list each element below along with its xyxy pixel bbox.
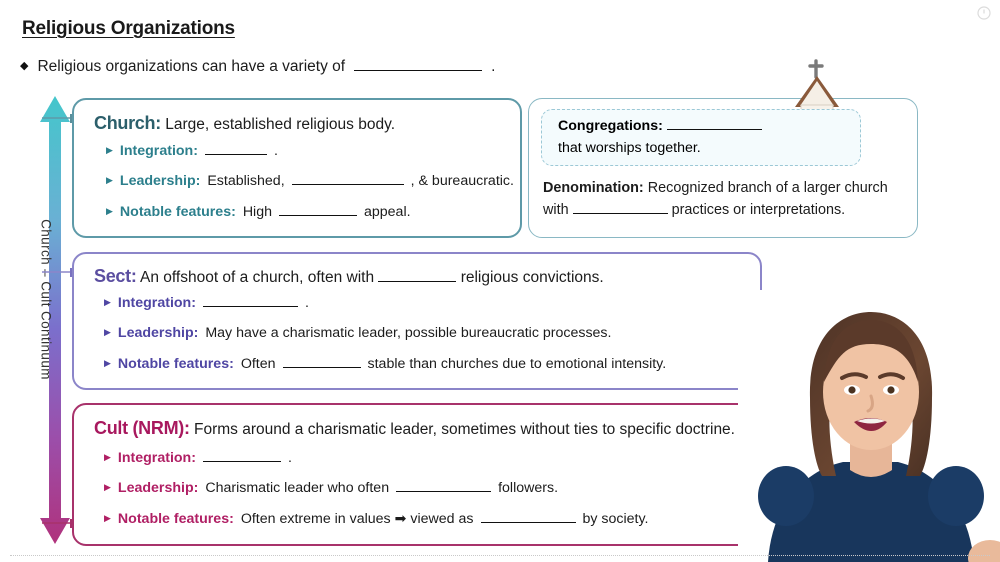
church-row-leadership: ▶ Leadership: Established, , & bureaucra… — [106, 172, 514, 190]
row-after: , & bureaucratic. — [411, 172, 514, 190]
row-blank — [279, 215, 357, 216]
card-denomination[interactable]: Congregations: that worships together. D… — [528, 98, 918, 238]
church-definition: Large, established religious body. — [165, 116, 395, 133]
congregations-term: Congregations: — [558, 118, 663, 134]
sect-definition-before: An offshoot of a church, often with — [140, 269, 374, 286]
row-label: Leadership: — [118, 479, 198, 497]
church-row-integration: ▶ Integration: . — [106, 142, 514, 160]
row-blank — [481, 522, 576, 523]
cult-rows: ▶ Integration: . ▶ Leadership: Charismat… — [104, 449, 648, 528]
church-rows: ▶ Integration: . ▶ Leadership: Establish… — [106, 142, 514, 221]
lead-text-before: Religious organizations can have a varie… — [37, 58, 345, 76]
church-row-notable: ▶ Notable features: High appeal. — [106, 203, 514, 221]
row-before: Established, — [207, 172, 284, 190]
row-label: Leadership: — [120, 172, 200, 190]
row-before: May have a charismatic leader, possible … — [205, 324, 611, 342]
church-heading: Church: Large, established religious bod… — [94, 112, 395, 135]
triangle-bullet-icon: ▶ — [106, 206, 113, 218]
triangle-bullet-icon: ▶ — [106, 175, 113, 187]
row-before: Charismatic leader who often — [205, 479, 389, 497]
cult-row-integration: ▶ Integration: . — [104, 449, 648, 467]
diamond-bullet-icon: ◆ — [20, 61, 28, 72]
row-label: Notable features: — [118, 355, 234, 373]
card-church[interactable]: Church: Large, established religious bod… — [72, 98, 522, 238]
row-after: by society. — [583, 510, 649, 528]
lead-blank — [354, 70, 482, 71]
page-title: Religious Organizations — [22, 18, 235, 40]
triangle-bullet-icon: ▶ — [104, 452, 111, 464]
church-term: Church: — [94, 113, 161, 133]
triangle-bullet-icon: ▶ — [104, 297, 111, 309]
row-label: Integration: — [118, 449, 196, 467]
triangle-bullet-icon: ▶ — [104, 358, 111, 370]
denomination-line1: Recognized branch of a larger church — [648, 180, 888, 196]
sect-row-leadership: ▶ Leadership: May have a charismatic lea… — [104, 324, 666, 342]
cult-term: Cult (NRM): — [94, 418, 190, 438]
sect-definition-after: religious convictions. — [461, 269, 604, 286]
slide-canvas: Religious Organizations ◆ Religious orga… — [0, 0, 1000, 562]
row-after: appeal. — [364, 203, 411, 221]
triangle-bullet-icon: ▶ — [104, 513, 111, 525]
sect-row-notable: ▶ Notable features: Often stable than ch… — [104, 355, 666, 373]
sect-heading: Sect: An offshoot of a church, often wit… — [94, 265, 604, 288]
row-blank — [396, 491, 491, 492]
row-after: . — [305, 294, 309, 312]
cult-heading: Cult (NRM): Forms around a charismatic l… — [94, 417, 735, 440]
denomination-body: Denomination: Recognized branch of a lar… — [543, 177, 909, 222]
congregations-line-2: that worships together. — [558, 140, 701, 156]
cult-definition: Forms around a charismatic leader, somet… — [194, 421, 735, 438]
denomination-term: Denomination: — [543, 180, 644, 196]
sect-rows: ▶ Integration: . ▶ Leadership: May have … — [104, 294, 666, 373]
row-after: followers. — [498, 479, 558, 497]
triangle-bullet-icon: ▶ — [104, 327, 111, 339]
row-after: . — [288, 449, 292, 467]
row-blank — [283, 367, 361, 368]
sect-term: Sect: — [94, 266, 137, 286]
lead-bullet-line: ◆ Religious organizations can have a var… — [20, 58, 495, 76]
sect-blank — [378, 281, 456, 282]
row-blank — [203, 306, 298, 307]
row-before: Often — [241, 355, 276, 373]
card-congregations[interactable]: Congregations: that worships together. — [541, 109, 861, 166]
denomination-line2-before: with — [543, 202, 569, 218]
denomination-blank — [573, 213, 668, 214]
card-cult[interactable]: Cult (NRM): Forms around a charismatic l… — [72, 403, 762, 546]
row-after: stable than churches due to emotional in… — [368, 355, 667, 373]
row-blank — [205, 154, 267, 155]
congregations-line-1: Congregations: — [558, 118, 762, 134]
cult-row-leadership: ▶ Leadership: Charismatic leader who oft… — [104, 479, 648, 497]
row-label: Notable features: — [120, 203, 236, 221]
row-before: Often extreme in values ➡ viewed as — [241, 510, 474, 528]
lead-text-after: . — [491, 58, 495, 76]
triangle-bullet-icon: ▶ — [106, 145, 113, 157]
row-after: . — [274, 142, 278, 160]
row-label: Leadership: — [118, 324, 198, 342]
denomination-line2-after: practices or interpretations. — [672, 202, 846, 218]
row-label: Integration: — [118, 294, 196, 312]
presenter-video-overlay — [738, 290, 1000, 562]
row-label: Notable features: — [118, 510, 234, 528]
card-sect[interactable]: Sect: An offshoot of a church, often wit… — [72, 252, 762, 390]
sect-row-integration: ▶ Integration: . — [104, 294, 666, 312]
row-blank — [292, 184, 404, 185]
circle-info-icon[interactable] — [976, 5, 992, 21]
row-label: Integration: — [120, 142, 198, 160]
row-blank — [203, 461, 281, 462]
cult-row-notable: ▶ Notable features: Often extreme in val… — [104, 510, 648, 528]
row-before: High — [243, 203, 272, 221]
bottom-divider — [10, 555, 990, 556]
triangle-bullet-icon: ▶ — [104, 482, 111, 494]
congregations-blank — [667, 129, 762, 130]
